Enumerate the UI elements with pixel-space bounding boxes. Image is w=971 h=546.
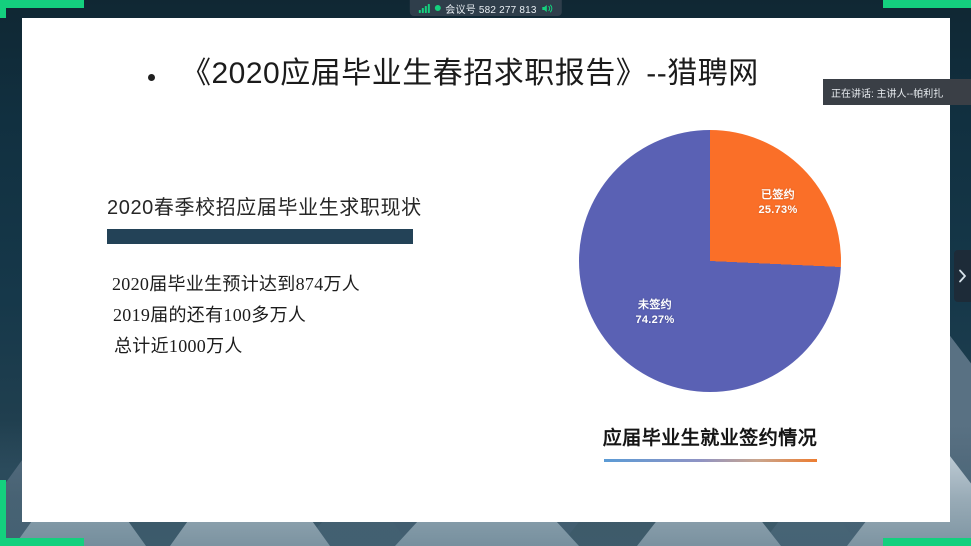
pie-label-unsigned-name: 未签约 [615,298,695,313]
green-status-dot [434,5,440,11]
expand-panel-button[interactable] [954,250,971,302]
share-border-bottom-left [0,538,84,546]
share-border-top-left [0,0,84,8]
pie-label-unsigned-value: 74.27% [615,313,695,328]
meeting-info-bar[interactable]: 会议号 582 277 813 [409,0,561,16]
share-border-left-top [0,0,6,18]
signal-bars-icon [418,4,429,13]
pie-label-unsigned: 未签约 74.27% [615,298,695,328]
chart-caption-rule [604,459,817,462]
meeting-id-label: 会议号 582 277 813 [445,1,536,16]
slide-title: 《2020应届毕业生春招求职报告》--猎聘网 [181,56,759,92]
pie-slices [579,130,841,392]
pie-label-signed: 已签约 25.73% [738,188,818,218]
slide-title-row: 《2020应届毕业生春招求职报告》--猎聘网 [148,56,759,92]
section-heading-bar [107,229,413,244]
section-heading-block: 2020春季校招应届毕业生求职现状 [107,191,427,244]
screen-share-viewport: 《2020应届毕业生春招求职报告》--猎聘网 2020春季校招应届毕业生求职现状… [0,0,971,546]
body-line: 总计近1000万人 [112,331,360,362]
chart-caption-block: 应届毕业生就业签约情况 [575,423,845,462]
shared-slide: 《2020应届毕业生春招求职报告》--猎聘网 2020春季校招应届毕业生求职现状… [22,18,950,522]
pie-label-signed-value: 25.73% [738,203,818,218]
speaker-icon[interactable] [542,4,553,13]
slide-body: 2020届毕业生预计达到874万人 2019届的还有100多万人 总计近1000… [112,269,360,362]
active-speaker-text: 正在讲话: 主讲人--帕利扎 [831,85,943,100]
active-speaker-toast: 正在讲话: 主讲人--帕利扎 [823,79,971,105]
body-line: 2020届毕业生预计达到874万人 [112,269,360,300]
pie-chart-graphic: 已签约 25.73% 未签约 74.27% [579,130,841,392]
chart-caption: 应届毕业生就业签约情况 [575,423,845,450]
body-line: 2019届的还有100多万人 [112,300,360,331]
share-border-left-bottom [0,480,6,546]
chevron-right-icon [958,269,967,283]
pie-label-signed-name: 已签约 [738,188,818,203]
share-border-top-right [883,0,971,8]
section-heading: 2020春季校招应届毕业生求职现状 [107,191,427,220]
share-border-bottom-right [883,538,971,546]
bullet-icon [148,74,155,81]
pie-chart: 已签约 25.73% 未签约 74.27% 应届毕业生就业签约情况 [575,130,845,480]
